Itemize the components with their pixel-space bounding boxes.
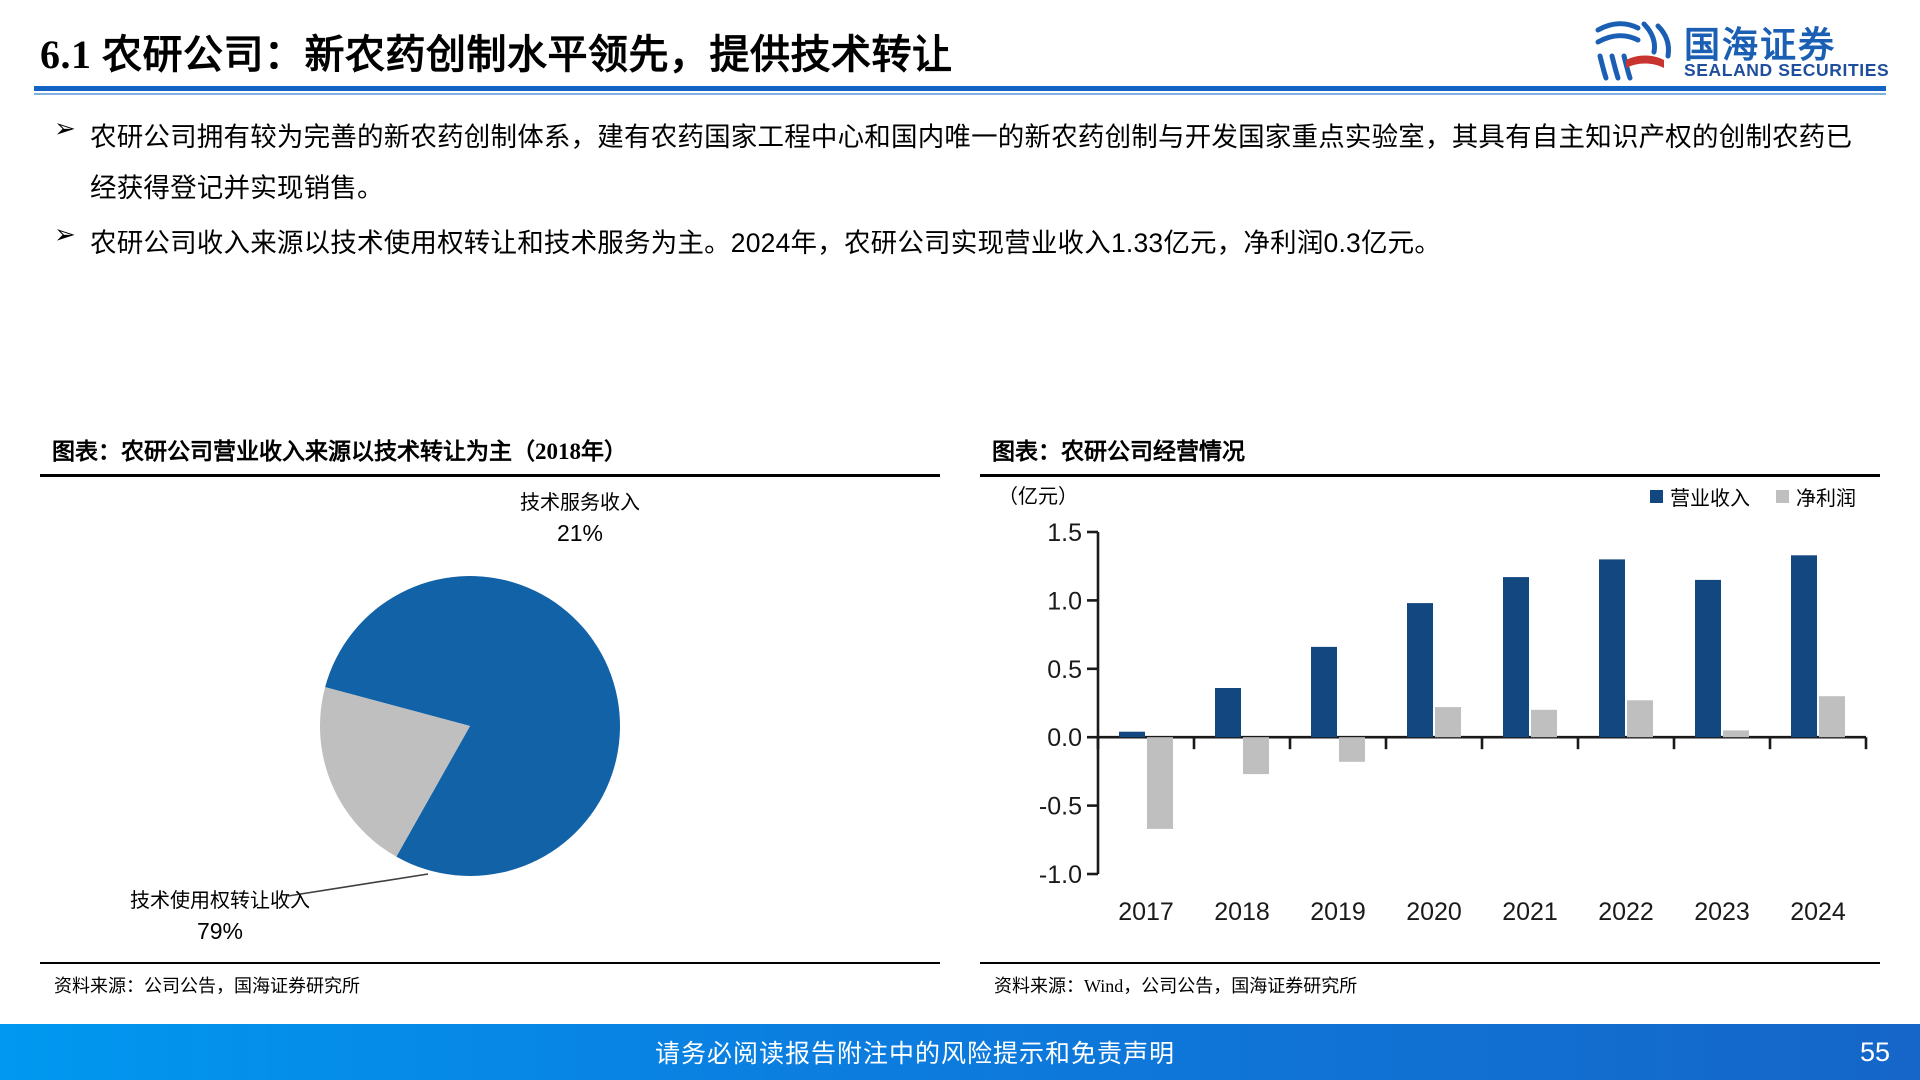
bar-营业收入-2017 — [1119, 732, 1145, 738]
footer-disclaimer: 请务必阅读报告附注中的风险提示和免责声明 — [0, 1024, 1920, 1080]
chart-source: 资料来源：公司公告，国海证券研究所 — [54, 972, 360, 998]
list-item: ➢ 农研公司拥有较为完善的新农药创制体系，建有农药国家工程中心和国内唯一的新农药… — [38, 112, 1878, 214]
svg-text:2020: 2020 — [1406, 898, 1462, 926]
header-rule-secondary — [34, 93, 1886, 95]
bar-净利润-2022 — [1627, 700, 1653, 737]
svg-text:-1.0: -1.0 — [1039, 861, 1082, 889]
slide-header: 6.1 农研公司：新农药创制水平领先，提供技术转让 国海证券 SEALAND S… — [0, 0, 1920, 100]
svg-text:0.5: 0.5 — [1047, 656, 1082, 684]
header-rule-primary — [34, 86, 1886, 91]
bar-营业收入-2019 — [1311, 647, 1337, 737]
page-number: 55 — [1860, 1024, 1890, 1080]
page-title: 6.1 农研公司：新农药创制水平领先，提供技术转让 — [40, 22, 953, 80]
pie-label-transfer: 技术使用权转让收入 79% — [70, 886, 370, 946]
logo-english-name: SEALAND SECURITIES — [1684, 60, 1889, 81]
svg-text:1.0: 1.0 — [1047, 587, 1082, 615]
pie-label-service-pct: 21% — [470, 518, 690, 548]
chart-panel-operations: 图表：农研公司经营情况 （亿元） 营业收入 净利润 1.51.00.50.0-0… — [980, 430, 1880, 1020]
slide-root: 6.1 农研公司：新农药创制水平领先，提供技术转让 国海证券 SEALAND S… — [0, 0, 1920, 1080]
legend-swatch-profit — [1776, 490, 1789, 503]
svg-text:2019: 2019 — [1310, 898, 1366, 926]
bar-营业收入-2022 — [1599, 559, 1625, 737]
legend-label-profit: 净利润 — [1796, 482, 1856, 511]
bar-净利润-2020 — [1435, 707, 1461, 737]
chart-legend: 营业收入 净利润 — [1650, 482, 1856, 511]
bar-营业收入-2024 — [1791, 555, 1817, 737]
bullet-arrow-icon: ➢ — [54, 116, 76, 142]
svg-text:2022: 2022 — [1598, 898, 1654, 926]
bar-营业收入-2023 — [1695, 580, 1721, 737]
list-item: ➢ 农研公司收入来源以技术使用权转让和技术服务为主。2024年，农研公司实现营业… — [38, 218, 1878, 269]
legend-label-revenue: 营业收入 — [1670, 482, 1750, 511]
legend-item-revenue: 营业收入 — [1650, 482, 1750, 511]
bar-营业收入-2018 — [1215, 688, 1241, 737]
bar-营业收入-2020 — [1407, 603, 1433, 737]
brand-logo: 国海证券 SEALAND SECURITIES — [1592, 14, 1892, 88]
bar-净利润-2018 — [1243, 737, 1269, 774]
bullet-text: 农研公司拥有较为完善的新农药创制体系，建有农药国家工程中心和国内唯一的新农药创制… — [90, 122, 1852, 203]
bullet-arrow-icon: ➢ — [54, 222, 76, 248]
pie-slices — [320, 576, 620, 876]
pie-label-service: 技术服务收入 21% — [470, 488, 690, 548]
bar-净利润-2017 — [1147, 737, 1173, 829]
bar-chart-svg: 1.51.00.50.0-0.5-1.020172018201920202021… — [980, 476, 1880, 962]
svg-text:1.5: 1.5 — [1047, 519, 1082, 547]
bar-净利润-2024 — [1819, 696, 1845, 737]
bar-净利润-2021 — [1531, 710, 1557, 737]
bar-营业收入-2021 — [1503, 577, 1529, 737]
divider-bottom — [40, 962, 940, 965]
svg-text:2021: 2021 — [1502, 898, 1558, 926]
bar-净利润-2019 — [1339, 737, 1365, 762]
chart-source: 资料来源：Wind，公司公告，国海证券研究所 — [994, 972, 1357, 998]
bar-chart: （亿元） 营业收入 净利润 1.51.00.50.0-0.5-1.0201720… — [980, 476, 1880, 962]
divider-bottom — [980, 962, 1880, 965]
bullet-text: 农研公司收入来源以技术使用权转让和技术服务为主。2024年，农研公司实现营业收入… — [90, 228, 1441, 258]
pie-chart: 技术服务收入 21% 技术使用权转让收入 79% — [40, 476, 940, 962]
axis-unit-label: （亿元） — [998, 480, 1078, 509]
bar-净利润-2023 — [1723, 730, 1749, 737]
chart-title: 图表：农研公司经营情况 — [992, 432, 1245, 466]
slide-footer: 请务必阅读报告附注中的风险提示和免责声明 55 — [0, 1024, 1920, 1080]
legend-item-profit: 净利润 — [1776, 482, 1856, 511]
pie-label-transfer-pct: 79% — [70, 916, 370, 946]
svg-text:2024: 2024 — [1790, 898, 1846, 926]
chart-panel-revenue-mix: 图表：农研公司营业收入来源以技术转让为主（2018年） 技术服务收入 — [40, 430, 940, 1020]
svg-text:2018: 2018 — [1214, 898, 1270, 926]
pie-label-transfer-name: 技术使用权转让收入 — [70, 886, 370, 916]
legend-swatch-revenue — [1650, 490, 1663, 503]
pie-label-service-name: 技术服务收入 — [470, 488, 690, 518]
svg-text:2023: 2023 — [1694, 898, 1750, 926]
sealand-logo-icon — [1592, 16, 1674, 82]
svg-text:0.0: 0.0 — [1047, 724, 1082, 752]
svg-text:-0.5: -0.5 — [1039, 793, 1082, 821]
chart-title: 图表：农研公司营业收入来源以技术转让为主（2018年） — [52, 432, 627, 466]
svg-text:2017: 2017 — [1118, 898, 1174, 926]
bullet-list: ➢ 农研公司拥有较为完善的新农药创制体系，建有农药国家工程中心和国内唯一的新农药… — [38, 112, 1878, 273]
